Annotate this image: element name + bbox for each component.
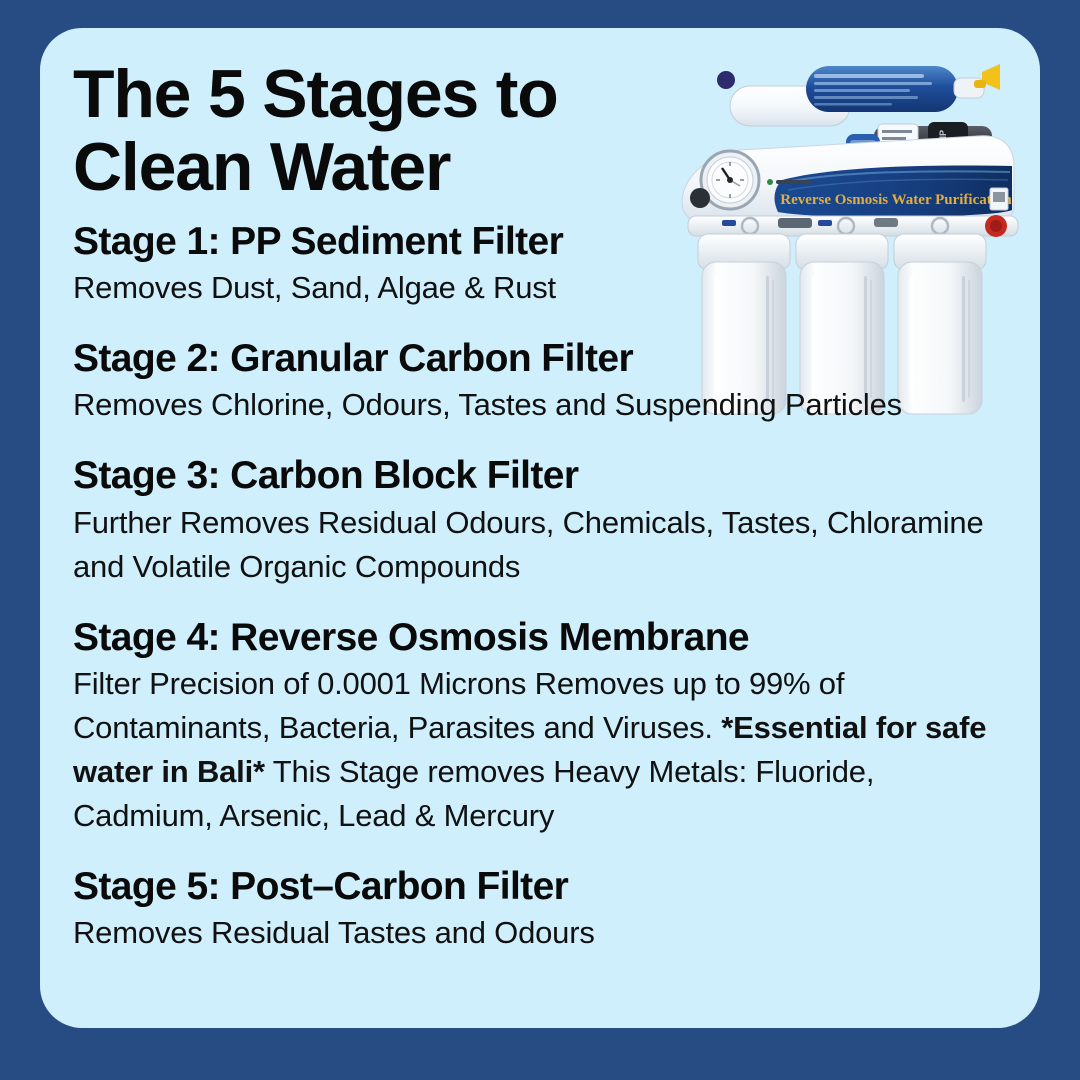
stage-2-heading: Stage 2: Granular Carbon Filter: [73, 336, 1013, 381]
stage-2-body: Removes Chlorine, Odours, Tastes and Sus…: [73, 383, 1013, 427]
stage-block-1: Stage 1: PP Sediment Filter Removes Dust…: [73, 219, 1013, 310]
stage-block-3: Stage 3: Carbon Block Filter Further Rem…: [73, 453, 1013, 588]
stage-block-2: Stage 2: Granular Carbon Filter Removes …: [73, 336, 1013, 427]
stage-3-body: Further Removes Residual Odours, Chemica…: [73, 501, 1013, 589]
content-card: PUMP CE: [40, 28, 1040, 1028]
stage-5-heading: Stage 5: Post–Carbon Filter: [73, 864, 1013, 909]
stage-3-heading: Stage 3: Carbon Block Filter: [73, 453, 1013, 498]
poster-content: The 5 Stages to Clean Water Stage 1: PP …: [73, 58, 1013, 981]
stage-1-heading: Stage 1: PP Sediment Filter: [73, 219, 1013, 264]
stage-block-5: Stage 5: Post–Carbon Filter Removes Resi…: [73, 864, 1013, 955]
stage-block-4: Stage 4: Reverse Osmosis Membrane Filter…: [73, 615, 1013, 838]
stage-4-body: Filter Precision of 0.0001 Microns Remov…: [73, 662, 1013, 838]
page-title: The 5 Stages to Clean Water: [73, 58, 673, 205]
stage-1-body: Removes Dust, Sand, Algae & Rust: [73, 266, 1013, 310]
stage-5-body: Removes Residual Tastes and Odours: [73, 911, 1013, 955]
poster-root: PUMP CE: [0, 0, 1080, 1080]
stage-4-heading: Stage 4: Reverse Osmosis Membrane: [73, 615, 1013, 660]
